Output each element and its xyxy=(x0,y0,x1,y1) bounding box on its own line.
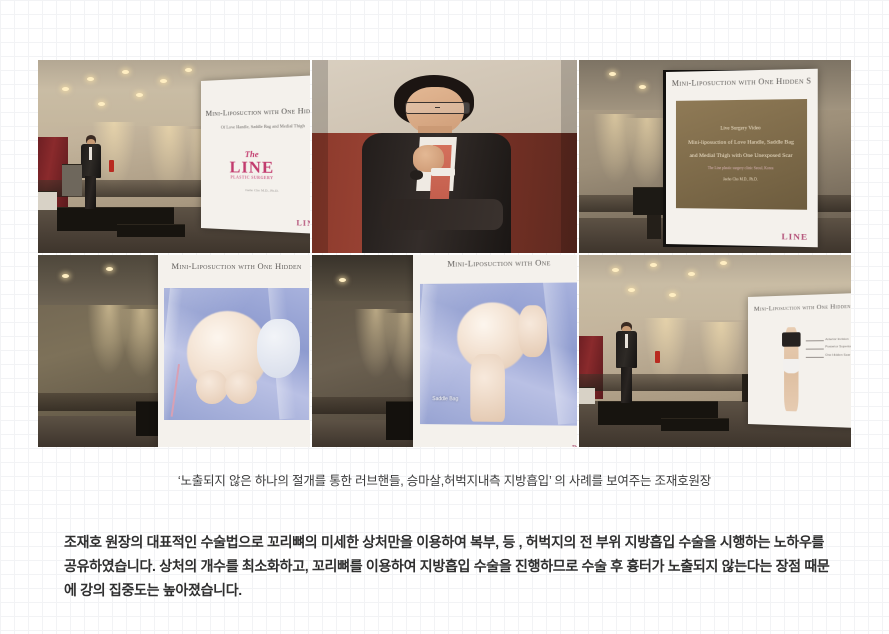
av-cabinet xyxy=(386,401,415,440)
the-line-logo-corner: LINE xyxy=(781,232,808,241)
projection-screen: Mini-Liposuction with One Hidden Scar Of… xyxy=(201,75,310,234)
lectern xyxy=(62,164,81,196)
surgery-video-panel xyxy=(164,288,309,420)
slide-title: Mini-Liposuction with One Hidden Scar xyxy=(672,76,811,88)
stage-step xyxy=(661,418,729,431)
patient-skin-lower xyxy=(196,370,228,404)
the-line-logo-corner: The xyxy=(571,445,577,447)
patient-hip xyxy=(517,305,546,356)
slide-title: Mini-Liposuction with One Hidden xyxy=(164,261,309,271)
surgeon-glove xyxy=(257,319,301,377)
projection-screen: Mini-Liposuction with One Hidden xyxy=(158,255,310,447)
portrait-panel-edge xyxy=(312,60,328,253)
body-figure xyxy=(778,327,803,412)
lecture-photo-gallery: Mini-Liposuction with One Hidden Scar Of… xyxy=(38,60,851,450)
speaker-figure xyxy=(79,135,103,208)
slide-body-panel: Live Surgery Video Mini-liposuction of L… xyxy=(676,99,806,209)
projection-screen: Mini-Liposuction with One Hidden Scar An… xyxy=(748,293,851,429)
slide-title: Mini-Liposuction with One Hidden Scar xyxy=(206,105,310,118)
patient-skin-lower xyxy=(225,370,257,404)
projection-screen: Mini-Liposuction with One Hidden Scar Li… xyxy=(666,68,818,246)
slide-line-4: The Line plastic surgery clinic Seoul, K… xyxy=(708,166,774,171)
portrait-folded-arm xyxy=(381,199,503,230)
ceiling-light xyxy=(106,267,113,271)
side-table xyxy=(579,387,595,403)
logo-sub-text: PLASTIC SURGERY xyxy=(230,176,275,181)
ceiling-light xyxy=(639,85,646,89)
portrait-cuff xyxy=(431,168,455,176)
slide-credit: Jaeho Cho M.D., Ph.D. xyxy=(225,187,301,193)
portrait-panel-edge xyxy=(561,60,577,253)
speaker-shirt xyxy=(89,147,92,160)
photo-title-slide[interactable]: Mini-Liposuction with One Hidden Scar Li… xyxy=(579,60,851,253)
ceiling-light xyxy=(650,263,657,267)
projection-screen: Mini-Liposuction with One Saddle Bag The xyxy=(413,255,577,447)
logo-line-corner-text: LINE xyxy=(297,220,310,229)
side-table xyxy=(38,191,57,209)
slide-line-5: Jaeho Cho M.D., Ph.D. xyxy=(723,177,758,182)
speaker-figure xyxy=(614,322,638,403)
body-top-band xyxy=(782,332,800,347)
annotation-posterior-incision: Posterior Superior Incision xyxy=(825,344,851,349)
slide-title: Mini-Liposuction with One Hidden Scar xyxy=(752,302,851,313)
article-body: 조재호 원장의 대표적인 수술법으로 꼬리뼈의 미세한 상처만을 이용하여 복부… xyxy=(64,530,836,602)
fire-extinguisher xyxy=(109,160,114,172)
photo-speaker-portrait[interactable] xyxy=(312,60,577,253)
anatomy-diagram xyxy=(755,321,829,419)
gallery-caption: ‘노출되지 않은 하나의 절개를 통한 러브핸들, 승마살,허벅지내측 지방흡입… xyxy=(0,470,889,489)
speaker-shirt xyxy=(625,334,628,348)
speaker-legs xyxy=(85,176,96,208)
ceiling-light xyxy=(122,70,129,74)
annotation-anterior-incision: Anterior Incision xyxy=(825,336,848,340)
ceiling-light xyxy=(136,93,143,97)
speaker-legs xyxy=(621,367,632,403)
article-paragraph: 조재호 원장의 대표적인 수술법으로 꼬리뼈의 미세한 상처만을 이용하여 복부… xyxy=(64,530,836,602)
surgery-video-panel: Saddle Bag xyxy=(419,282,577,425)
body-brief xyxy=(782,360,799,374)
fire-extinguisher xyxy=(655,351,660,363)
slide-line-2: Mini-liposuction of Love Handle, Saddle … xyxy=(688,139,794,147)
video-label-saddle-bag: Saddle Bag xyxy=(432,396,458,402)
ceiling-light xyxy=(185,68,192,72)
ceiling-light xyxy=(609,72,616,76)
av-cabinet xyxy=(633,187,666,215)
logo-the-corner-text: The xyxy=(571,445,577,447)
the-line-logo: The LINE PLASTIC SURGERY xyxy=(230,151,275,180)
slide-line-3: and Medial Thigh with One Unexposed Scar xyxy=(689,152,792,160)
stage-step xyxy=(117,224,185,237)
logo-line-corner-text: LINE xyxy=(781,232,808,241)
portrait-watch xyxy=(410,170,423,180)
photo-surgery-video-back[interactable]: Mini-Liposuction with One Hidden xyxy=(38,255,310,447)
photo-stage-wide-right[interactable]: Mini-Liposuction with One Hidden Scar An… xyxy=(579,255,851,447)
slide-subtitle: Of Love Handle, Saddle Bag and Medial Th… xyxy=(208,123,310,130)
annotation-hidden-scar: One Hidden Scar xyxy=(825,353,850,357)
logo-line-text: LINE xyxy=(230,160,275,177)
patient-thigh xyxy=(470,354,505,422)
glasses-icon xyxy=(405,102,471,114)
photo-surgery-video-saddle-bag[interactable]: Mini-Liposuction with One Saddle Bag The xyxy=(312,255,577,447)
photo-stage-wide-left[interactable]: Mini-Liposuction with One Hidden Scar Of… xyxy=(38,60,310,253)
ceiling-light xyxy=(339,278,346,282)
ceiling-light xyxy=(628,288,635,292)
the-line-logo-corner: LINE xyxy=(297,220,310,229)
slide-line-1: Live Surgery Video xyxy=(720,126,760,133)
slide-title: Mini-Liposuction with One xyxy=(419,257,577,269)
